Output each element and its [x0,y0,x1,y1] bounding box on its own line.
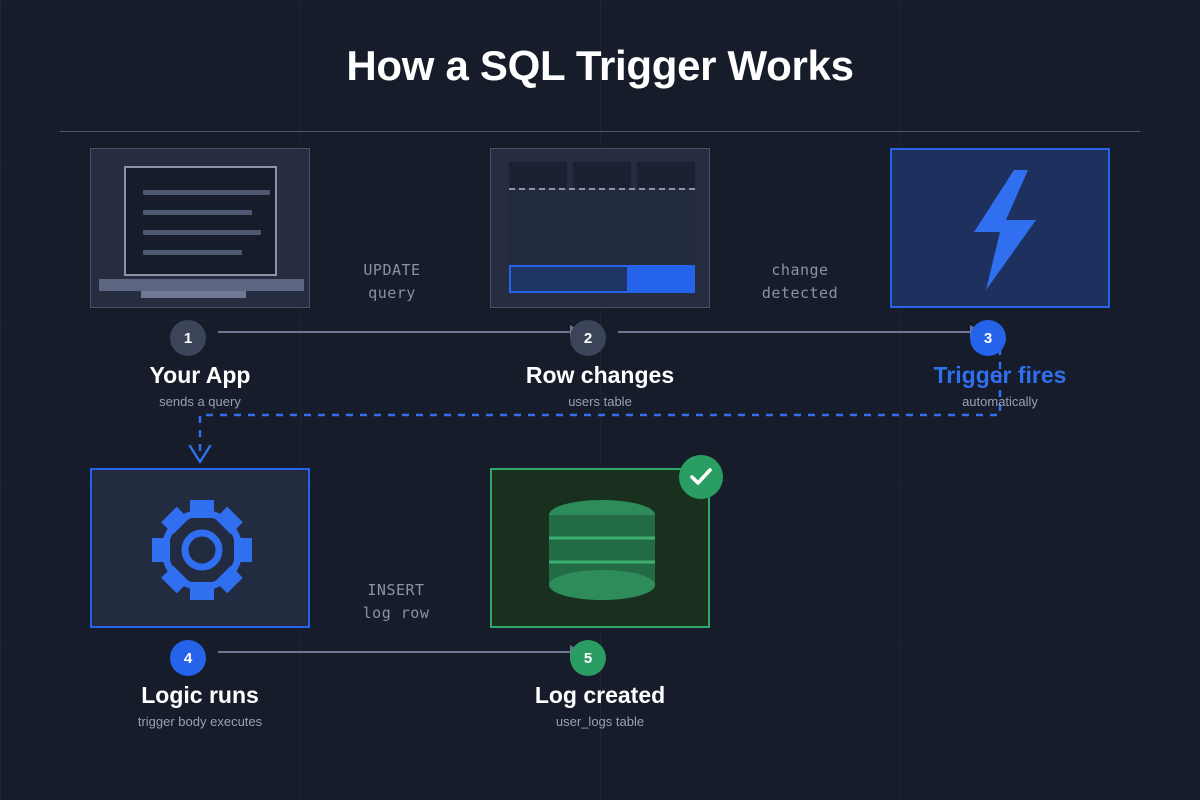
node-trigger-fires-box [890,148,1110,308]
edge-label-line2: log row [306,602,486,625]
table-highlighted-row [509,265,695,293]
node-subtitle-trigger-fires: automatically [860,394,1140,409]
node-title-row-changes: Row changes [460,362,740,389]
node-row-changes-box [490,148,710,308]
database-icon [547,498,657,602]
node-title-your-app: Your App [60,362,340,389]
node-logic-runs-box [90,468,310,628]
edge-label-line1: INSERT [306,579,486,602]
diagram-canvas: How a SQL Trigger Works UPDATE query cha… [0,0,1200,800]
laptop-foot [141,291,246,298]
success-check-badge [679,455,723,499]
node-title-logic-runs: Logic runs [60,682,340,709]
node-subtitle-logic-runs: trigger body executes [60,714,340,729]
check-icon [688,464,714,490]
step-badge-2: 2 [570,320,606,356]
table-body [509,190,695,263]
laptop-screen [124,166,277,276]
step-badge-5: 5 [570,640,606,676]
step-badge-4: 4 [170,640,206,676]
step-badge-3: 3 [970,320,1006,356]
step-badge-1: 1 [170,320,206,356]
node-subtitle-row-changes: users table [460,394,740,409]
node-your-app-box [90,148,310,308]
node-subtitle-log-created: user_logs table [460,714,740,729]
node-log-created-box [490,468,710,628]
node-subtitle-your-app: sends a query [60,394,340,409]
lightning-bolt-icon [956,168,1048,292]
laptop-base [99,279,304,291]
node-title-trigger-fires: Trigger fires [860,362,1140,389]
node-title-log-created: Log created [460,682,740,709]
edge-label-insert-log-row: INSERT log row [306,579,486,625]
gear-icon [147,495,257,605]
